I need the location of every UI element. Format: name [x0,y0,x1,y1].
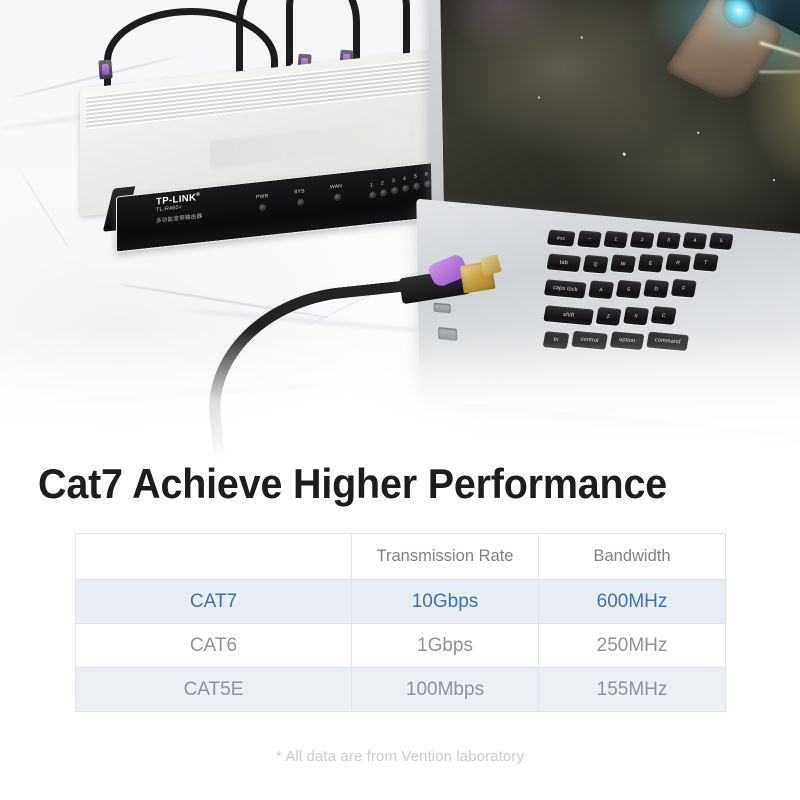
light-ray [759,70,800,73]
key-x[interactable]: X [623,307,649,326]
led-pwr [259,203,266,211]
key-w[interactable]: W [610,254,636,273]
port-label-1: 1 [370,182,373,188]
cell-bandwidth: 600MHz [539,580,726,624]
key-5[interactable]: 5 [709,232,734,250]
spec-comparison-table: Transmission Rate Bandwidth CAT7 10Gbps … [75,533,726,712]
cell-category: CAT7 [76,580,352,624]
key-r[interactable]: R [665,253,691,272]
footnote: * All data are from Vention laboratory [0,748,800,765]
led-label-pwr: PWR [256,193,268,200]
led-label-sys: SYS [294,188,305,195]
port-label-4: 4 [403,176,406,182]
table-row: CAT6 1Gbps 250MHz [76,624,726,668]
key-2[interactable]: 2 [630,231,655,249]
key-a[interactable]: A [588,280,614,299]
key-s[interactable]: S [616,280,642,299]
gold-plated-tip [480,254,502,276]
port-led-3 [391,187,398,195]
led-label-wan: WAN [330,183,342,190]
key-caps-lock[interactable]: caps lock [544,279,587,298]
registered-mark: ® [196,192,200,198]
key-t[interactable]: T [693,253,719,272]
table-row: CAT5E 100Mbps 155MHz [76,668,726,712]
star [773,179,775,181]
key-f[interactable]: F [671,279,697,298]
product-infographic: TP-LINK® TL-R460+ 多功能宽带路由器 PWR SYS WAN 1… [0,0,800,800]
cell-bandwidth: 250MHz [539,624,726,668]
star [581,36,583,38]
star [697,132,699,134]
key-1[interactable]: 1 [603,231,628,249]
table-row: CAT7 10Gbps 600MHz [76,580,726,624]
key-q[interactable]: Q [583,255,609,274]
key-3[interactable]: 3 [656,232,681,250]
header-cell-bandwidth: Bandwidth [539,534,726,580]
key-tilde[interactable]: ~ [577,230,602,248]
star [538,96,540,98]
key-esc[interactable]: esc [547,230,576,247]
key-e[interactable]: E [638,254,664,273]
hero-photo: TP-LINK® TL-R460+ 多功能宽带路由器 PWR SYS WAN 1… [0,0,800,460]
key-4[interactable]: 4 [682,232,707,250]
port-label-2: 2 [381,180,384,186]
port-led-2 [380,189,387,197]
led-wan [334,193,341,201]
page-title: Cat7 Achieve Higher Performance [38,463,724,505]
key-d[interactable]: D [643,279,669,298]
port-label-3: 3 [392,178,395,184]
key-z[interactable]: Z [596,307,622,326]
table-header-row: Transmission Rate Bandwidth [76,534,726,580]
cell-rate: 1Gbps [352,624,539,668]
led-sys [297,198,304,206]
cell-bandwidth: 155MHz [539,668,726,712]
cell-category: CAT5E [76,668,352,712]
cell-rate: 100Mbps [352,668,539,712]
key-shift[interactable]: shift [543,305,594,325]
header-cell-blank [76,534,352,580]
cell-rate: 10Gbps [352,580,539,624]
star [623,153,626,156]
photo-fade-to-white [0,330,800,460]
key-tab[interactable]: tab [546,254,581,273]
header-cell-rate: Transmission Rate [352,534,539,580]
marble-vein [21,172,70,249]
cell-category: CAT6 [76,624,352,668]
port-led-1 [369,191,376,199]
key-c[interactable]: C [651,306,677,325]
